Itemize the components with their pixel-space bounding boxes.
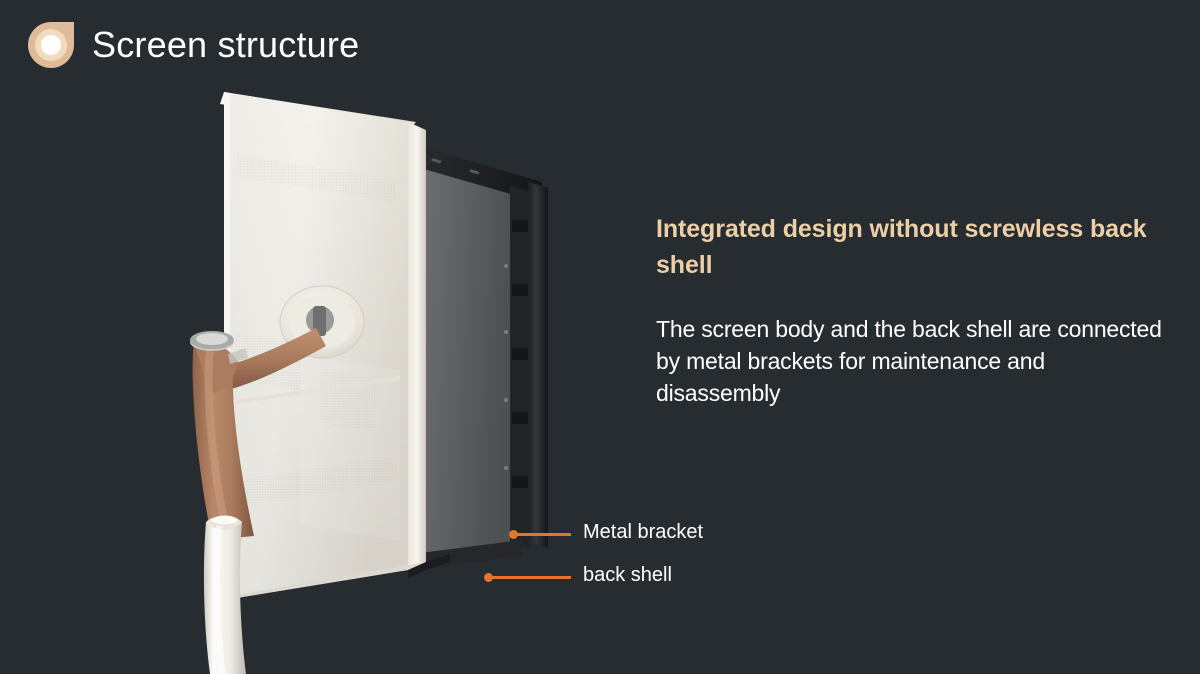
stand-pole bbox=[204, 516, 246, 674]
copy-heading: Integrated design without screwless back… bbox=[656, 212, 1170, 283]
copy-body: The screen body and the back shell are c… bbox=[656, 313, 1170, 410]
slide-header: Screen structure bbox=[28, 22, 359, 68]
slide-canvas: Screen structure bbox=[0, 0, 1200, 674]
callout-leader-line bbox=[513, 533, 571, 536]
callout-label-back-shell: back shell bbox=[583, 565, 672, 585]
logo-center-dot bbox=[41, 35, 61, 55]
droplet-ring-icon bbox=[28, 22, 74, 68]
callout-label-metal-bracket: Metal bracket bbox=[583, 522, 703, 542]
page-title: Screen structure bbox=[92, 27, 359, 63]
product-illustration bbox=[150, 70, 580, 674]
copy-block: Integrated design without screwless back… bbox=[656, 212, 1170, 410]
callout-leader-line bbox=[488, 576, 571, 579]
